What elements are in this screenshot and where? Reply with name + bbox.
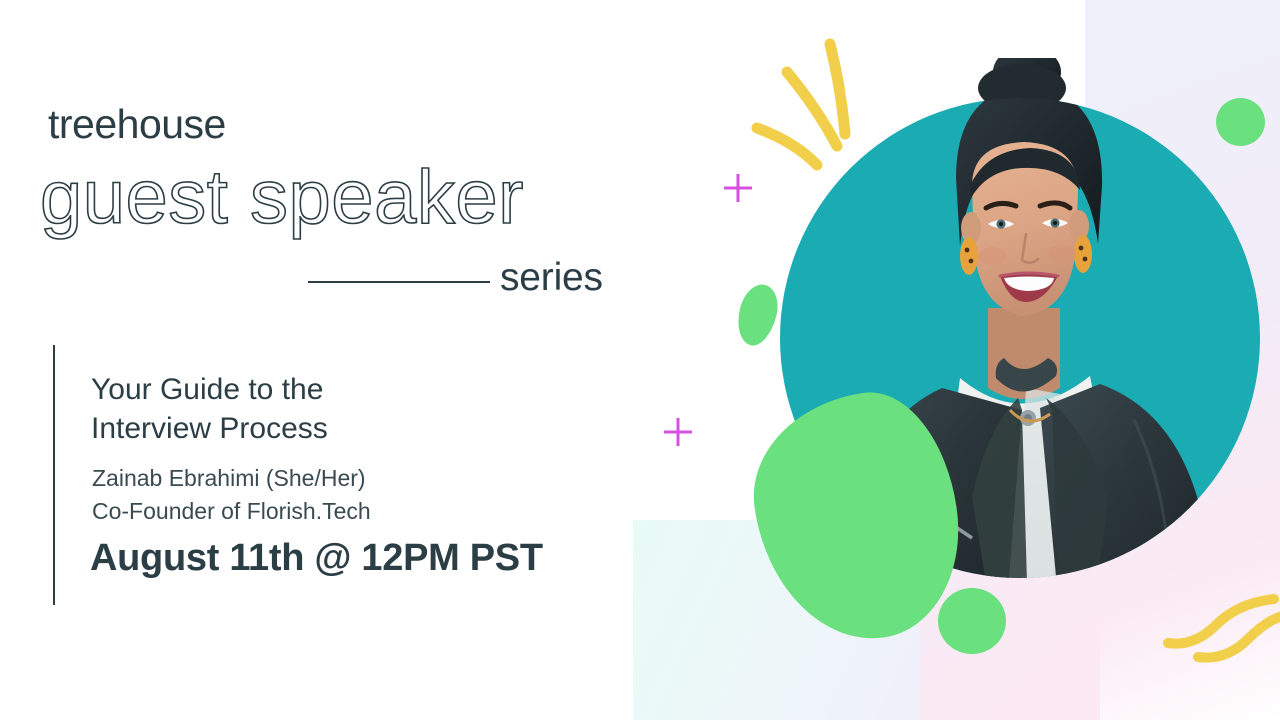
speaker-name: Zainab Ebrahimi (She/Her) xyxy=(92,462,366,495)
speaker-portrait-group xyxy=(760,58,1280,678)
talk-title: Your Guide to the Interview Process xyxy=(91,370,511,448)
vertical-accent-rule xyxy=(53,345,55,605)
speaker-portrait xyxy=(760,58,1280,678)
plus-icon xyxy=(718,168,758,208)
text-column: treehouse guest speaker series Your Guid… xyxy=(0,0,700,720)
series-label: series xyxy=(500,258,603,297)
speaker-role: Co-Founder of Florish.Tech xyxy=(92,495,371,528)
event-datetime: August 11th @ 12PM PST xyxy=(90,536,543,582)
series-divider-rule xyxy=(308,281,490,283)
brand-name: treehouse xyxy=(48,104,226,145)
headline-outline-text: guest speaker xyxy=(40,158,524,238)
talk-title-line-1: Your Guide to the xyxy=(91,370,511,409)
promo-banner: treehouse guest speaker series Your Guid… xyxy=(0,0,1280,720)
talk-title-line-2: Interview Process xyxy=(91,409,511,448)
